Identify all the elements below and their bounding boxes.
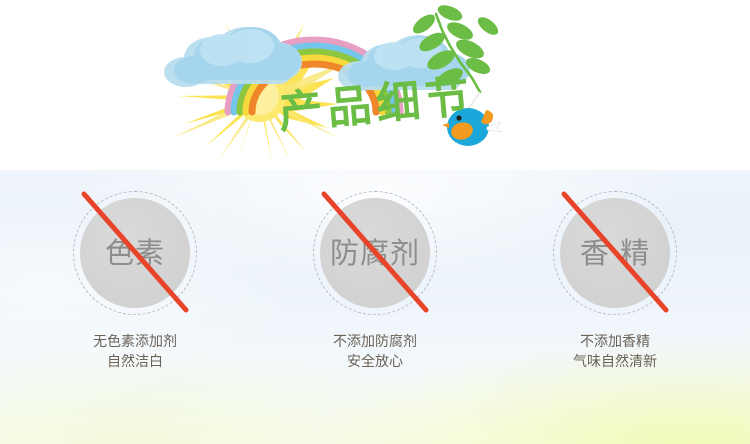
cloud-icon [164, 27, 302, 87]
caption-line-1: 不添加香精 [580, 334, 650, 350]
feature-list: 色素 无色素添加剂 自然洁白 防腐剂 不添加防腐剂 [0, 170, 750, 444]
header-banner: 产品细节 [0, 0, 750, 172]
no-preservative-badge: 防腐剂 [310, 188, 440, 318]
header-illustration: 产品细节 [150, 0, 600, 160]
feature-item: 防腐剂 不添加防腐剂 安全放心 [284, 188, 466, 373]
feature-caption: 无色素添加剂 自然洁白 [93, 332, 177, 373]
caption-line-2: 自然洁白 [93, 352, 177, 372]
caption-line-1: 不添加防腐剂 [333, 334, 417, 350]
no-fragrance-badge: 香 精 [550, 188, 680, 318]
no-additive-badge: 色素 [70, 188, 200, 318]
feature-caption: 不添加香精 气味自然清新 [573, 332, 657, 373]
feature-item: 色素 无色素添加剂 自然洁白 [44, 188, 226, 373]
header-artwork: 产品细节 [150, 0, 600, 160]
badge-label: 防腐剂 [330, 239, 420, 268]
caption-line-2: 安全放心 [333, 352, 417, 372]
badge-label: 色素 [105, 239, 165, 268]
feature-item: 香 精 不添加香精 气味自然清新 [524, 188, 706, 373]
product-detail-page: 产品细节 色素 无色素添加剂 自然洁白 [0, 0, 750, 444]
badge-label: 香 精 [580, 239, 650, 268]
caption-line-1: 无色素添加剂 [93, 334, 177, 350]
feature-caption: 不添加防腐剂 安全放心 [333, 332, 417, 373]
caption-line-2: 气味自然清新 [573, 352, 657, 372]
